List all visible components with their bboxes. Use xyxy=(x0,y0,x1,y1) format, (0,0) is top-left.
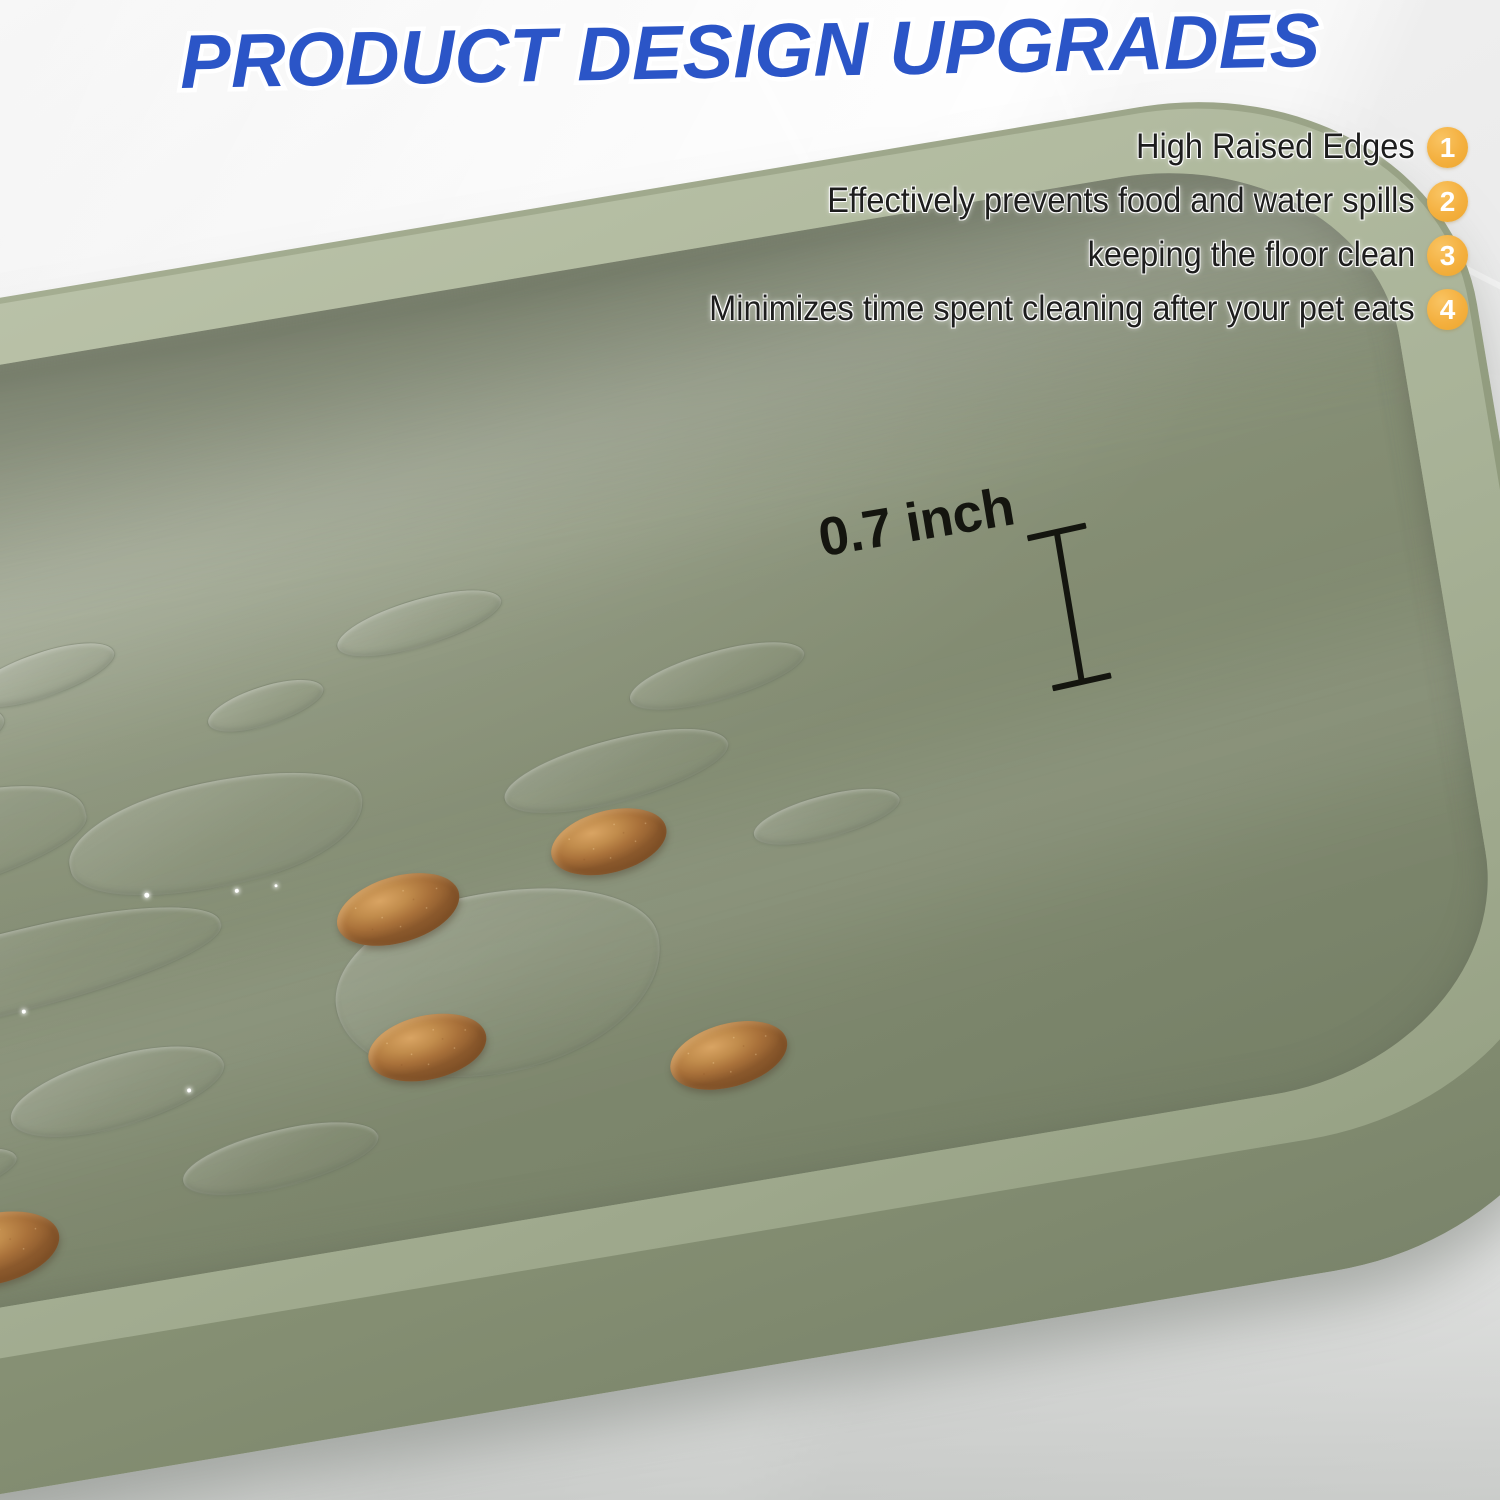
water-droplet xyxy=(748,776,906,857)
feature-label: Effectively prevents food and water spil… xyxy=(828,181,1415,221)
dimension-bar xyxy=(1054,530,1085,683)
feature-number-badge: 3 xyxy=(1427,235,1468,276)
droplet-highlight xyxy=(144,892,150,898)
water-droplet xyxy=(330,576,509,671)
water-droplet xyxy=(0,882,231,1060)
water-droplet xyxy=(0,629,122,721)
water-droplet xyxy=(176,1106,386,1210)
water-droplet xyxy=(1,1027,234,1156)
droplet-highlight xyxy=(22,1009,27,1014)
feature-number-badge: 4 xyxy=(1427,289,1468,330)
feature-label: High Raised Edges xyxy=(1136,127,1415,167)
feature-label: keeping the floor clean xyxy=(1087,235,1415,275)
feature-number-badge: 2 xyxy=(1427,181,1468,222)
water-droplet xyxy=(623,627,812,724)
product-marketing-image: 0.7 inch PRODUCT DESIGN UPGRADES High Ra… xyxy=(0,0,1500,1500)
water-droplet xyxy=(0,1136,23,1214)
water-droplet xyxy=(201,668,329,743)
feature-item-2: Effectively prevents food and water spil… xyxy=(468,174,1468,228)
feature-item-4: Minimizes time spent cleaning after your… xyxy=(468,282,1468,336)
droplet-highlight xyxy=(274,884,277,887)
feature-list: High Raised Edges 1 Effectively prevents… xyxy=(468,120,1468,336)
feature-item-3: keeping the floor clean 3 xyxy=(468,228,1468,282)
droplet-highlight xyxy=(235,889,240,894)
feature-item-1: High Raised Edges 1 xyxy=(468,120,1468,174)
feature-label: Minimizes time spent cleaning after your… xyxy=(709,289,1415,329)
feature-number-badge: 1 xyxy=(1427,127,1468,168)
